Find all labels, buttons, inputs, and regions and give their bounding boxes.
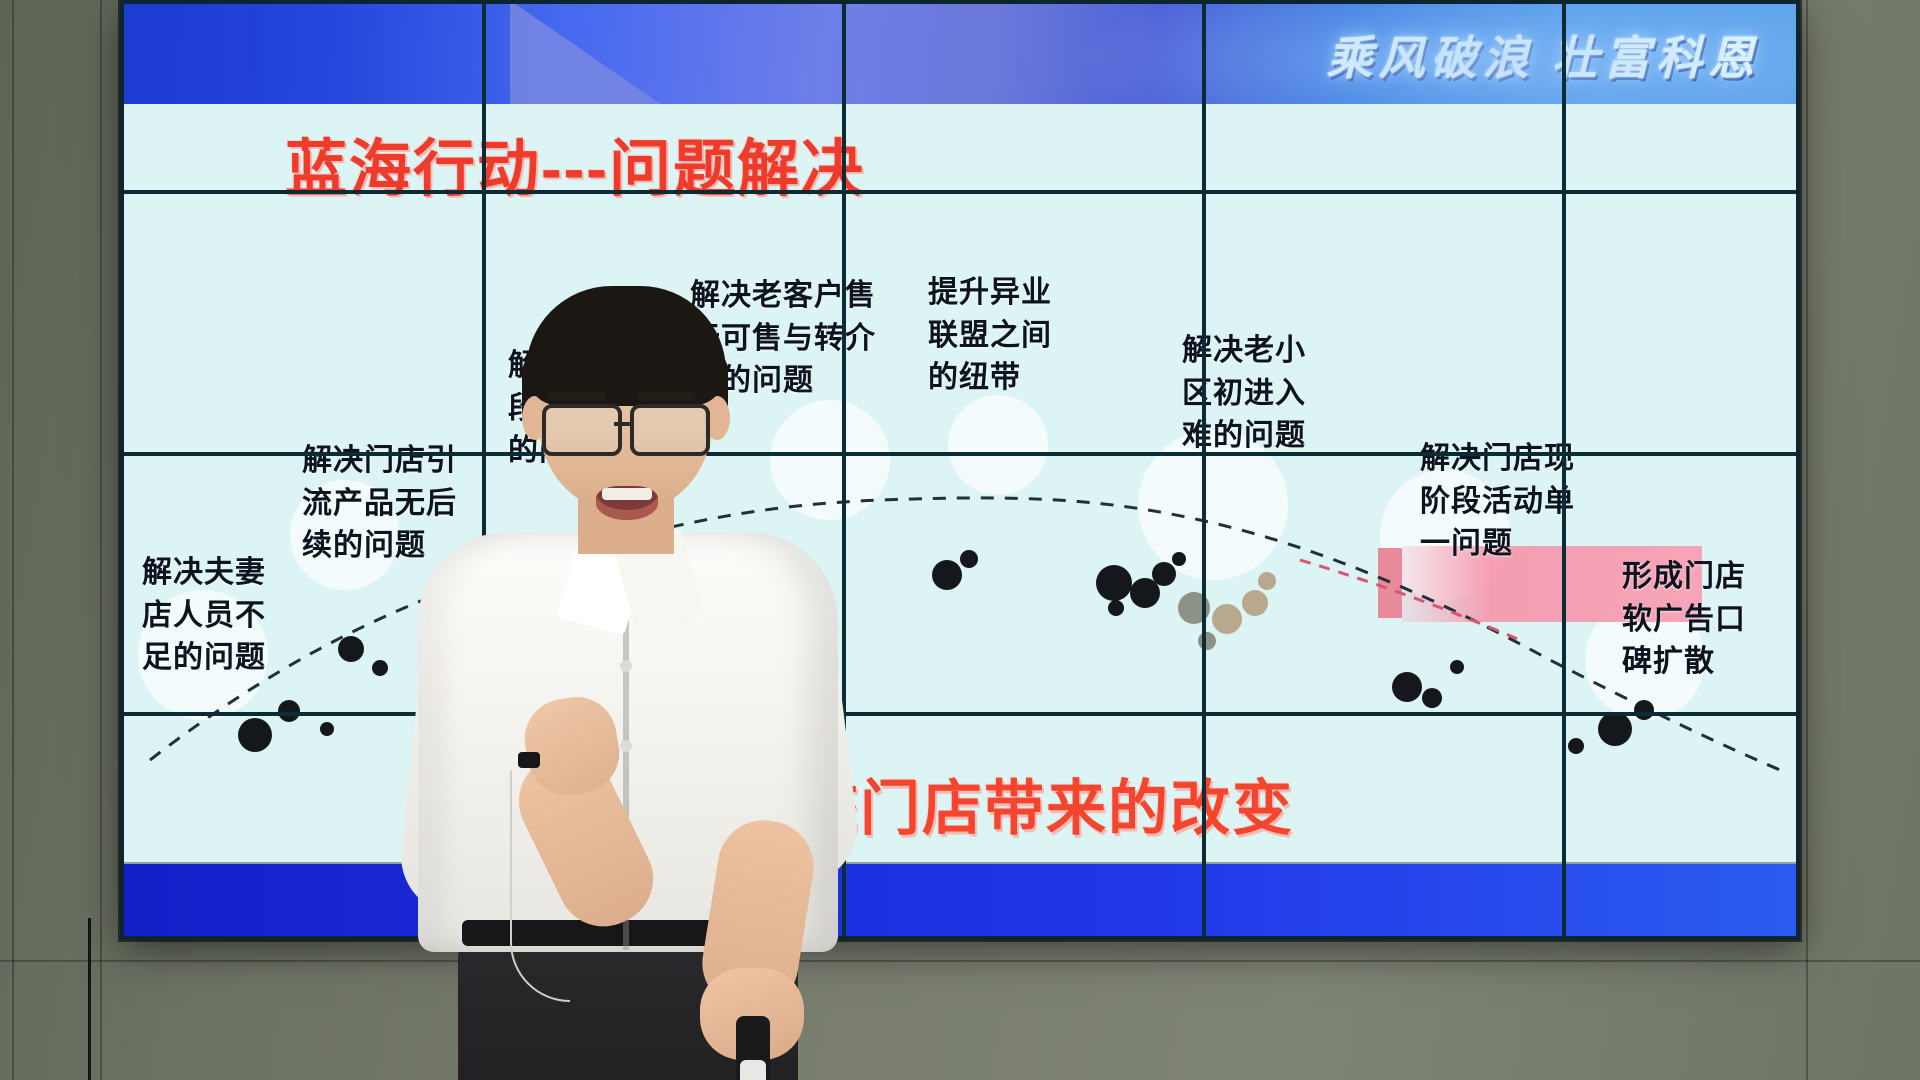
scene-root: 乘风破浪 壮富科恩 蓝海行动---问题解决 [0,0,1920,1080]
eyeglasses-lens [630,404,710,456]
shirt-button [620,660,632,672]
presenter-figure [418,300,838,1080]
wall-seam-left [12,0,14,1080]
video-wall-frame [120,0,1800,940]
eyeglasses-lens [542,404,622,456]
power-cable [88,918,151,1080]
presenter-teeth [602,488,652,500]
wall-seam-bottom [0,960,1920,962]
presenter-eyebrow [548,392,606,401]
presenter-eyebrow [638,392,696,401]
shirt-button [620,740,632,752]
eyeglasses-bridge [614,422,634,426]
lapel-microphone [518,752,540,768]
led-video-wall: 乘风破浪 壮富科恩 蓝海行动---问题解决 [120,0,1800,940]
presentation-clicker-body [740,1060,766,1080]
wall-seam-right [1806,0,1808,1080]
microphone-cable [510,770,570,1002]
presenter-hair [526,286,726,406]
